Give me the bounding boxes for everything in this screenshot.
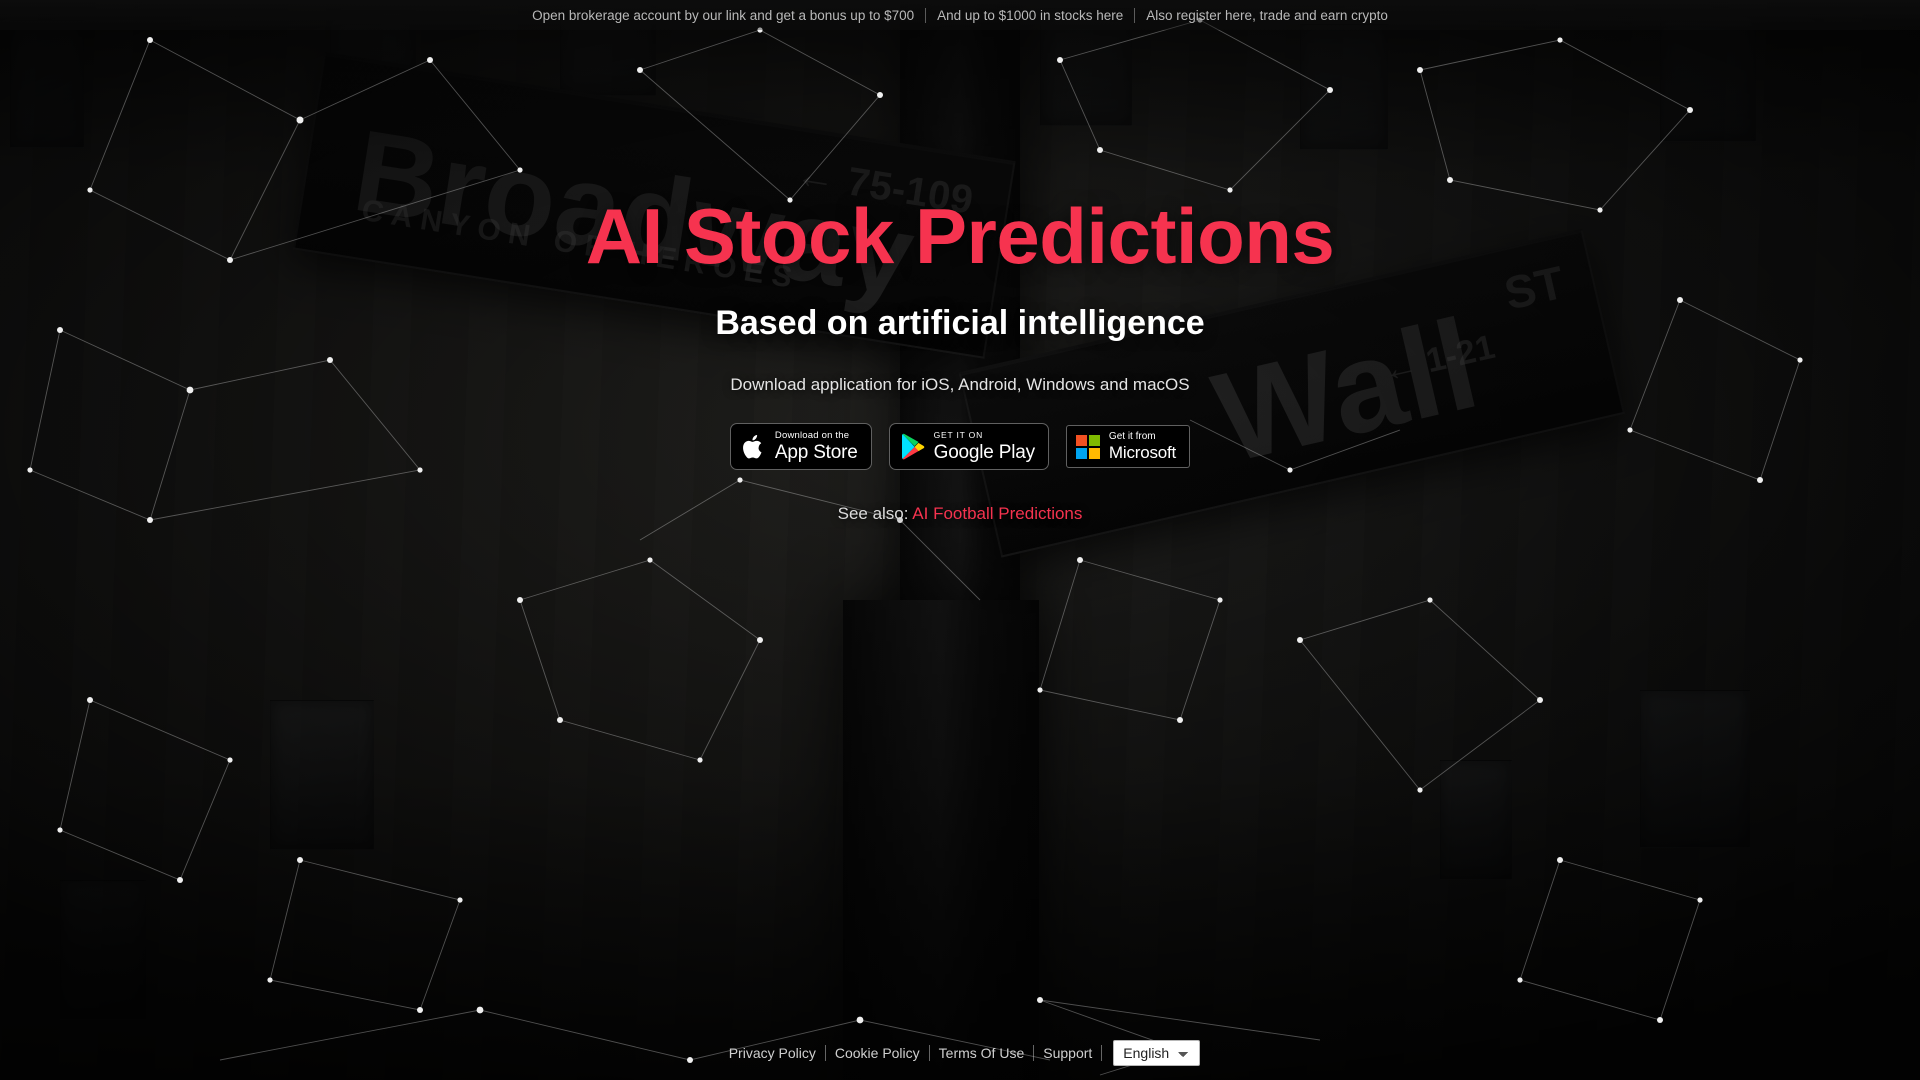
footer-link-terms-of-use[interactable]: Terms Of Use <box>930 1045 1034 1061</box>
app-store-badge-label: App Store <box>775 443 858 462</box>
google-play-badge[interactable]: GET IT ON Google Play <box>889 423 1049 470</box>
hero-section: AI Stock Predictions Based on artificial… <box>0 0 1920 1080</box>
download-description: Download application for iOS, Android, W… <box>730 375 1189 395</box>
microsoft-badge-small: Get it from <box>1109 432 1176 442</box>
google-play-icon <box>901 433 925 460</box>
footer-link-support[interactable]: Support <box>1034 1045 1101 1061</box>
google-play-badge-label: Google Play <box>934 443 1035 462</box>
footer: Privacy Policy Cookie Policy Terms Of Us… <box>0 1040 1920 1066</box>
promo-link-brokerage[interactable]: Open brokerage account by our link and g… <box>521 8 925 23</box>
microsoft-badge-label: Microsoft <box>1109 444 1176 461</box>
language-select[interactable]: English <box>1113 1040 1200 1066</box>
google-play-badge-small: GET IT ON <box>934 431 1035 440</box>
see-also-label: See also: <box>838 504 909 523</box>
footer-link-cookie-policy[interactable]: Cookie Policy <box>826 1045 929 1061</box>
promo-link-crypto[interactable]: Also register here, trade and earn crypt… <box>1135 8 1399 23</box>
promo-bar: Open brokerage account by our link and g… <box>0 0 1920 30</box>
store-badges: Download on the App Store GET IT ON Goog… <box>730 423 1190 471</box>
see-also-line: See also: AI Football Predictions <box>838 504 1083 524</box>
page-title: AI Stock Predictions <box>586 196 1335 278</box>
app-store-badge-small: Download on the <box>775 431 858 441</box>
page-subtitle: Based on artificial intelligence <box>715 304 1204 343</box>
apple-icon <box>742 433 766 461</box>
footer-separator <box>1101 1045 1102 1061</box>
footer-link-privacy-policy[interactable]: Privacy Policy <box>720 1045 825 1061</box>
promo-link-stocks[interactable]: And up to $1000 in stocks here <box>926 8 1134 23</box>
ai-football-predictions-link[interactable]: AI Football Predictions <box>912 504 1082 523</box>
landing-page: Broadway CANYON OF HEROES ← 75-109 Wall … <box>0 0 1920 1080</box>
app-store-badge[interactable]: Download on the App Store <box>730 423 872 471</box>
microsoft-store-badge[interactable]: Get it from Microsoft <box>1066 425 1190 468</box>
microsoft-icon <box>1076 435 1100 459</box>
